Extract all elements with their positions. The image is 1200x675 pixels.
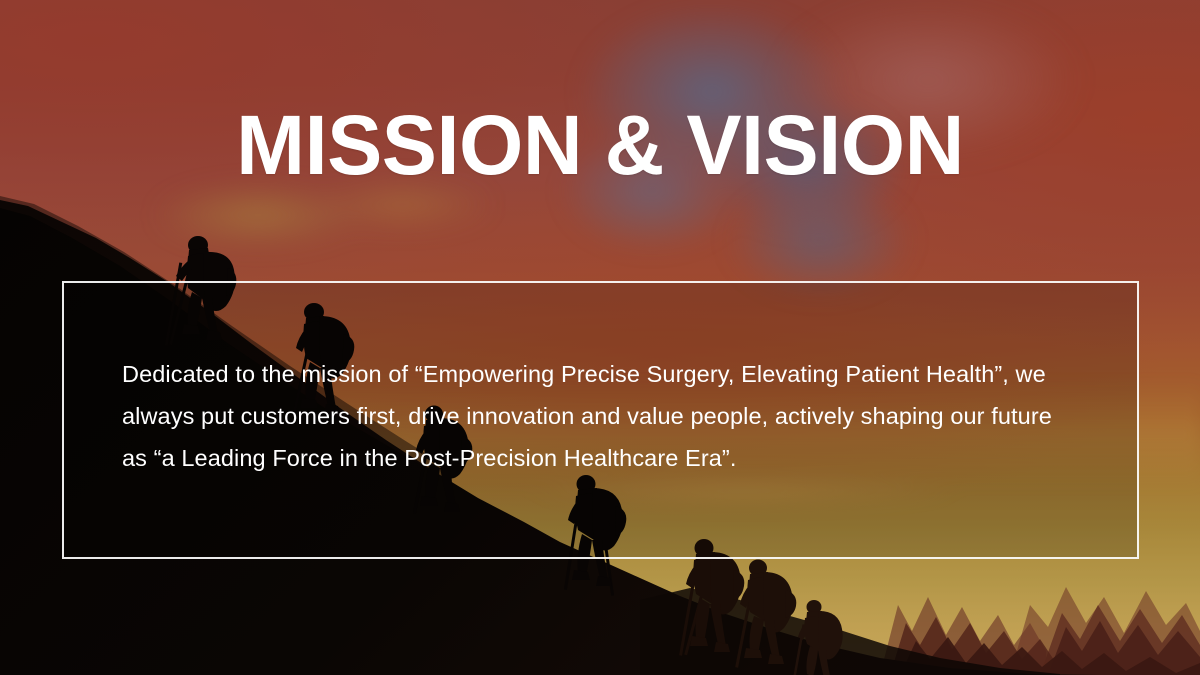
page-title: MISSION & VISION (9, 103, 1191, 187)
mission-line-3: as “a Leading Force in the Post-Precisio… (122, 437, 1097, 479)
mission-statement-text: Dedicated to the mission of “Empowering … (122, 353, 1097, 479)
mission-line-2: always put customers first, drive innova… (122, 395, 1097, 437)
mission-line-1: Dedicated to the mission of “Empowering … (122, 353, 1097, 395)
slide-mission-vision: MISSION & VISION Dedicated to the missio… (0, 0, 1200, 675)
mission-statement-box: Dedicated to the mission of “Empowering … (62, 281, 1139, 559)
